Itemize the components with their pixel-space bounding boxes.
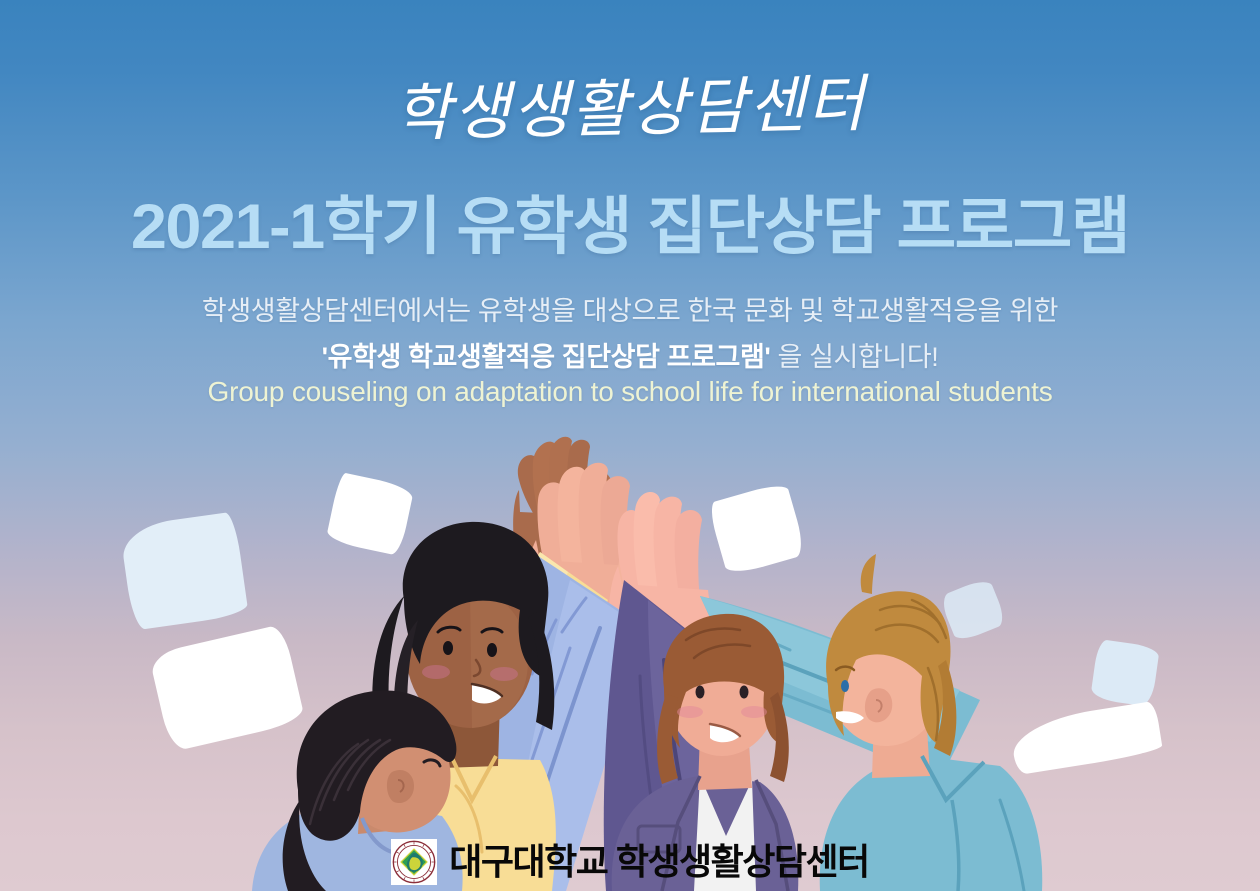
subtitle-english-line: Group couseling on adaptation to school … [0, 376, 1260, 408]
subtitle-line-2-tail: 을 실시합니다! [770, 342, 938, 372]
page-headline: 2021-1학기 유학생 집단상담 프로그램 [0, 176, 1260, 267]
poster-canvas: 학생생활상담센터 2021-1학기 유학생 집단상담 프로그램 학생생활상담센터… [0, 0, 1260, 891]
subtitle-line-1: 학생생활상담센터에서는 유학생을 대상으로 한국 문화 및 학교생활적응을 위한 [0, 289, 1260, 328]
footer-bar: 대구대학교 학생생활상담센터 [0, 839, 1260, 885]
subtitle-line-2: '유학생 학교생활적응 집단상담 프로그램' 을 실시합니다! [0, 335, 1260, 374]
daegu-university-seal-logo [391, 839, 437, 885]
footer-organization-label: 대구대학교 학생생활상담센터 [449, 844, 869, 880]
program-name-quoted: '유학생 학교생활적응 집단상담 프로그램' [322, 342, 771, 372]
